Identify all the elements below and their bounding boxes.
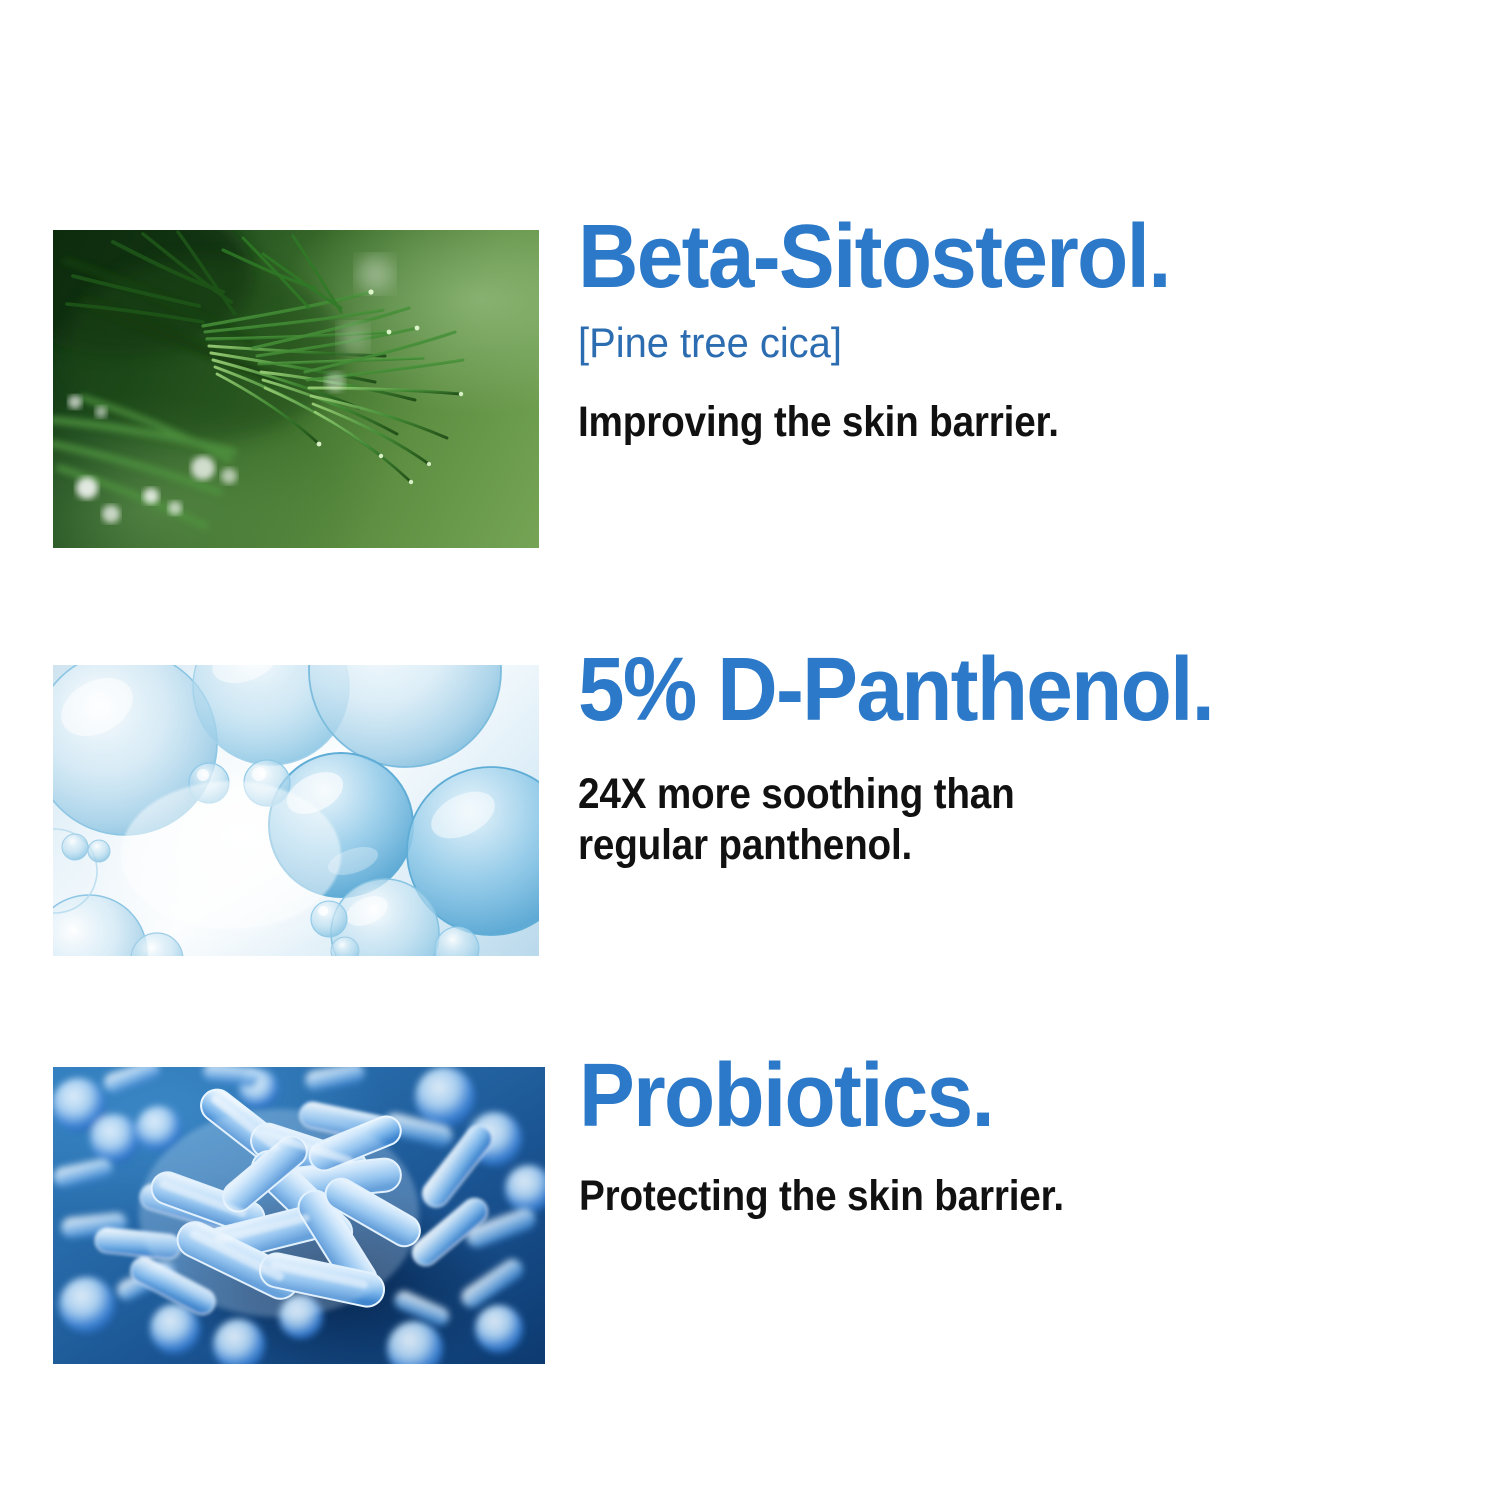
probiotics-image <box>53 1067 545 1364</box>
d-panthenol-body: 24X more soothing than regular panthenol… <box>578 769 1408 870</box>
beta-sitosterol-body: Improving the skin barrier. <box>578 397 1408 448</box>
d-panthenol-body-line-2: regular panthenol. <box>578 821 912 869</box>
ingredient-highlights-page: Beta-Sitosterol. [Pine tree cica] Improv… <box>0 0 1500 1500</box>
ingredient-block-d-panthenol: 5% D-Panthenol. 24X more soothing than r… <box>53 665 1500 956</box>
probiotic-bacteria-photo-art <box>53 1067 545 1364</box>
water-bubbles-photo-art <box>53 665 539 956</box>
d-panthenol-body-line-1: 24X more soothing than <box>578 770 1015 818</box>
pine-tree-photo-art <box>53 230 539 548</box>
beta-sitosterol-subtitle: [Pine tree cica] <box>578 320 1454 366</box>
probiotics-heading: Probiotics. <box>579 1053 1436 1139</box>
beta-sitosterol-copy: Beta-Sitosterol. [Pine tree cica] Improv… <box>539 230 1500 447</box>
beta-sitosterol-heading: Beta-Sitosterol. <box>578 214 1435 300</box>
probiotics-body: Protecting the skin barrier. <box>579 1171 1408 1222</box>
d-panthenol-heading: 5% D-Panthenol. <box>578 647 1435 733</box>
probiotics-copy: Probiotics. Protecting the skin barrier. <box>545 1067 1500 1222</box>
d-panthenol-copy: 5% D-Panthenol. 24X more soothing than r… <box>539 665 1500 871</box>
ingredient-block-beta-sitosterol: Beta-Sitosterol. [Pine tree cica] Improv… <box>53 230 1500 548</box>
water-bubbles-image <box>53 665 539 956</box>
pine-tree-image <box>53 230 539 548</box>
ingredient-block-probiotics: Probiotics. Protecting the skin barrier. <box>53 1067 1500 1364</box>
